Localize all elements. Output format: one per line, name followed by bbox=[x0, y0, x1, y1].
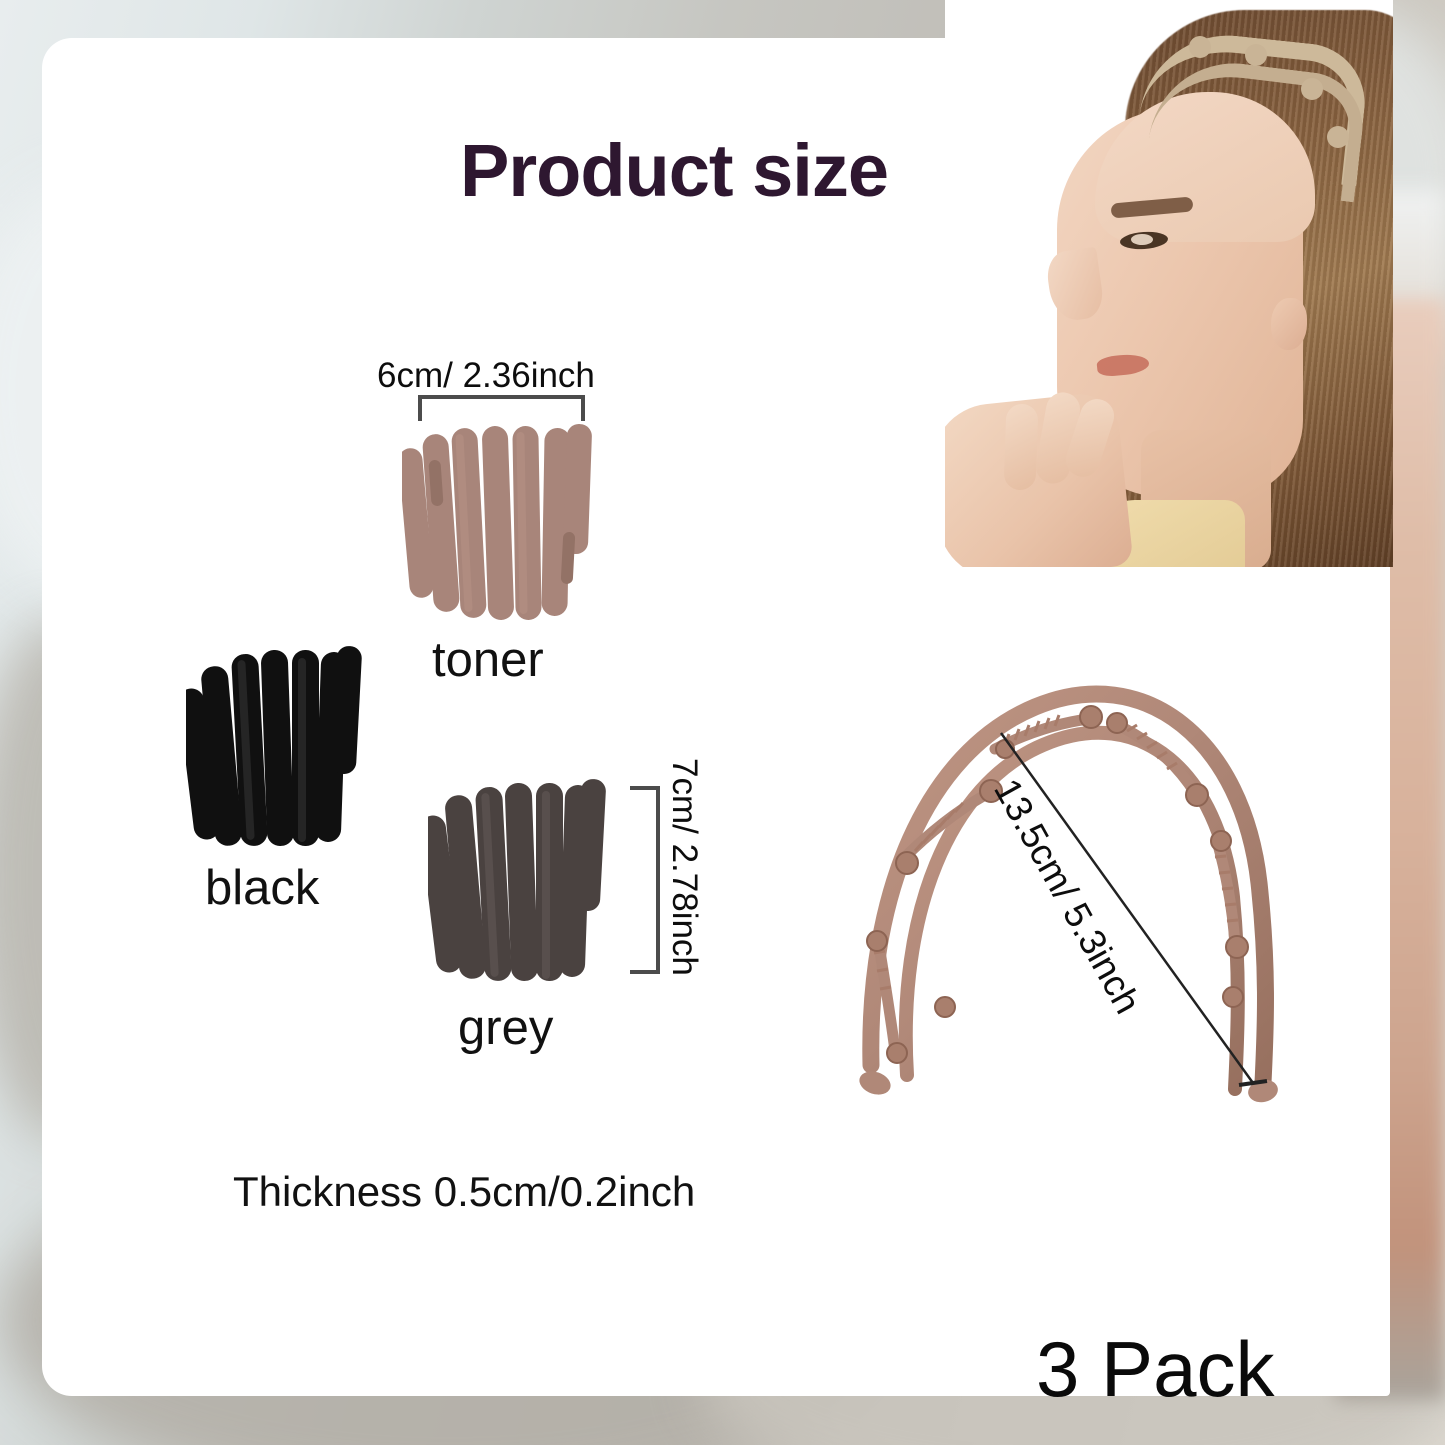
worn-headband-node bbox=[1189, 36, 1211, 58]
height-dimension-label: 7cm/ 2.78inch bbox=[664, 758, 704, 976]
toner-coil-graphic bbox=[402, 420, 598, 626]
worn-headband-node bbox=[1301, 78, 1323, 100]
variant-label-grey: grey bbox=[458, 1000, 553, 1056]
pack-count-label: 3 Pack bbox=[1036, 1324, 1274, 1415]
headband-stack-grey bbox=[428, 775, 610, 987]
width-dimension-bracket bbox=[418, 395, 585, 421]
model-eye-highlight bbox=[1131, 234, 1153, 245]
page-title: Product size bbox=[460, 128, 888, 213]
black-coil-graphic bbox=[186, 640, 366, 852]
worn-headband-node bbox=[1327, 126, 1349, 148]
width-dimension-label: 6cm/ 2.36inch bbox=[377, 356, 595, 396]
product-size-infographic: Product size 6cm/ 2.36inch bbox=[0, 0, 1445, 1445]
height-dimension-bracket bbox=[630, 786, 660, 974]
worn-headband-node bbox=[1245, 44, 1267, 66]
model-ear bbox=[1271, 298, 1307, 350]
thickness-label: Thickness 0.5cm/0.2inch bbox=[233, 1168, 695, 1216]
model-nose bbox=[1044, 247, 1105, 324]
variant-label-toner: toner bbox=[432, 632, 544, 688]
headband-stack-toner bbox=[402, 420, 598, 626]
headband-stack-black bbox=[186, 640, 366, 852]
model-finger bbox=[1004, 403, 1039, 490]
variant-label-black: black bbox=[205, 860, 319, 916]
model-photo bbox=[945, 0, 1393, 567]
grey-coil-graphic bbox=[428, 775, 610, 987]
